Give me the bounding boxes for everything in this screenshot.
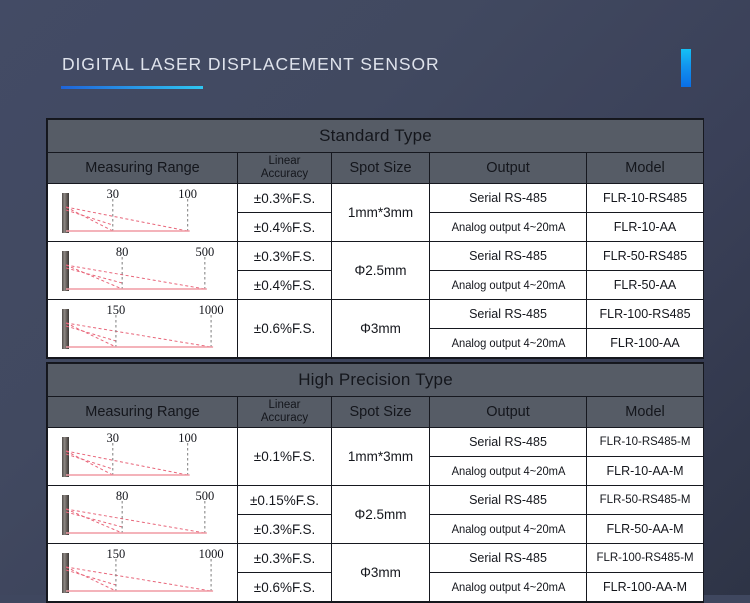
linear-accuracy-cell: ±0.3%F.S. <box>238 515 332 544</box>
linear-accuracy-cell: ±0.1%F.S. <box>238 428 332 486</box>
range-far-label: 1000 <box>199 547 224 562</box>
range-diagram-graphic <box>48 429 236 485</box>
measuring-range-cell: 1501000 <box>48 300 238 358</box>
model-cell: FLR-10-RS485-M <box>587 428 704 457</box>
range-near-label: 80 <box>116 245 129 260</box>
linear-accuracy-cell: ±0.6%F.S. <box>238 573 332 602</box>
product-spec-page: DIGITAL LASER DISPLACEMENT SENSOR Standa… <box>0 0 750 595</box>
spec-table-standard: Standard TypeMeasuring RangeLinearAccura… <box>46 118 704 359</box>
output-cell: Serial RS-485 <box>430 486 587 515</box>
table-header-row: Measuring RangeLinearAccuracySpot SizeOu… <box>48 153 704 184</box>
column-header-linear-accuracy: LinearAccuracy <box>238 153 332 184</box>
spot-size-cell: 1mm*3mm <box>332 184 430 242</box>
spot-size-cell: Φ2.5mm <box>332 486 430 544</box>
measuring-range-diagram: 1501000 <box>48 545 236 601</box>
table-row: 80500±0.3%F.S.Φ2.5mmSerial RS-485FLR-50-… <box>48 242 704 271</box>
measuring-range-cell: 30100 <box>48 428 238 486</box>
column-header-spot-size: Spot Size <box>332 153 430 184</box>
spot-size-cell: Φ3mm <box>332 544 430 602</box>
model-cell: FLR-100-AA <box>587 329 704 358</box>
model-cell: FLR-100-RS485 <box>587 300 704 329</box>
model-cell: FLR-10-AA-M <box>587 457 704 486</box>
measuring-range-cell: 30100 <box>48 184 238 242</box>
model-cell: FLR-50-RS485 <box>587 242 704 271</box>
table-caption: Standard Type <box>48 120 704 153</box>
output-cell: Serial RS-485 <box>430 428 587 457</box>
page-title: DIGITAL LASER DISPLACEMENT SENSOR <box>62 54 440 75</box>
range-far-label: 100 <box>178 431 197 446</box>
accent-bar-icon <box>681 49 691 87</box>
title-underline <box>61 86 203 89</box>
range-far-label: 1000 <box>199 303 224 318</box>
table-row: 30100±0.1%F.S.1mm*3mmSerial RS-485FLR-10… <box>48 428 704 457</box>
column-header-output: Output <box>430 397 587 428</box>
linear-accuracy-cell: ±0.3%F.S. <box>238 242 332 271</box>
output-cell: Serial RS-485 <box>430 242 587 271</box>
spec-table: High Precision TypeMeasuring RangeLinear… <box>47 363 704 602</box>
output-cell: Analog output 4~20mA <box>435 515 581 544</box>
column-header-model: Model <box>587 153 704 184</box>
range-diagram-graphic <box>48 185 236 241</box>
column-header-model: Model <box>587 397 704 428</box>
range-far-label: 500 <box>195 489 214 504</box>
column-header-output: Output <box>430 153 587 184</box>
model-cell: FLR-10-AA <box>587 213 704 242</box>
spec-table: Standard TypeMeasuring RangeLinearAccura… <box>47 119 704 358</box>
measuring-range-diagram: 30100 <box>48 185 236 241</box>
range-far-label: 100 <box>178 187 197 202</box>
column-header-measuring-range: Measuring Range <box>48 153 238 184</box>
measuring-range-diagram: 1501000 <box>48 301 236 357</box>
range-near-label: 150 <box>107 303 126 318</box>
linear-accuracy-cell: ±0.3%F.S. <box>238 184 332 213</box>
linear-accuracy-cell: ±0.4%F.S. <box>238 271 332 300</box>
linear-accuracy-label-line1: Linear <box>238 399 331 412</box>
output-cell: Analog output 4~20mA <box>435 271 581 300</box>
page-header: DIGITAL LASER DISPLACEMENT SENSOR <box>0 0 750 108</box>
range-near-label: 30 <box>107 431 120 446</box>
linear-accuracy-label-line2: Accuracy <box>238 168 331 181</box>
output-cell: Serial RS-485 <box>430 300 587 329</box>
output-cell: Analog output 4~20mA <box>435 457 581 486</box>
table-header-row: Measuring RangeLinearAccuracySpot SizeOu… <box>48 397 704 428</box>
spot-size-cell: Φ2.5mm <box>332 242 430 300</box>
model-cell: FLR-50-AA <box>587 271 704 300</box>
output-cell: Serial RS-485 <box>430 544 587 573</box>
column-header-linear-accuracy: LinearAccuracy <box>238 397 332 428</box>
linear-accuracy-cell: ±0.15%F.S. <box>238 486 332 515</box>
range-near-label: 150 <box>107 547 126 562</box>
spot-size-cell: 1mm*3mm <box>332 428 430 486</box>
measuring-range-diagram: 30100 <box>48 429 236 485</box>
measuring-range-cell: 80500 <box>48 242 238 300</box>
spot-size-cell: Φ3mm <box>332 300 430 358</box>
model-cell: FLR-100-AA-M <box>587 573 704 602</box>
linear-accuracy-label-line1: Linear <box>238 155 331 168</box>
model-cell: FLR-10-RS485 <box>587 184 704 213</box>
linear-accuracy-cell: ±0.4%F.S. <box>238 213 332 242</box>
measuring-range-cell: 80500 <box>48 486 238 544</box>
table-caption-row: Standard Type <box>48 120 704 153</box>
model-cell: FLR-50-RS485-M <box>587 486 704 515</box>
range-near-label: 80 <box>116 489 129 504</box>
measuring-range-diagram: 80500 <box>48 487 236 543</box>
table-caption: High Precision Type <box>48 364 704 397</box>
spec-table-high-precision: High Precision TypeMeasuring RangeLinear… <box>46 362 704 603</box>
model-cell: FLR-50-AA-M <box>587 515 704 544</box>
table-row: 30100±0.3%F.S.1mm*3mmSerial RS-485FLR-10… <box>48 184 704 213</box>
table-row: 80500±0.15%F.S.Φ2.5mmSerial RS-485FLR-50… <box>48 486 704 515</box>
output-cell: Analog output 4~20mA <box>435 329 581 358</box>
table-row: 1501000±0.3%F.S.Φ3mmSerial RS-485FLR-100… <box>48 544 704 573</box>
measuring-range-diagram: 80500 <box>48 243 236 299</box>
range-far-label: 500 <box>195 245 214 260</box>
table-row: 1501000±0.6%F.S.Φ3mmSerial RS-485FLR-100… <box>48 300 704 329</box>
column-header-measuring-range: Measuring Range <box>48 397 238 428</box>
linear-accuracy-label-line2: Accuracy <box>238 412 331 425</box>
range-near-label: 30 <box>107 187 120 202</box>
linear-accuracy-cell: ±0.3%F.S. <box>238 544 332 573</box>
output-cell: Analog output 4~20mA <box>435 213 581 242</box>
table-caption-row: High Precision Type <box>48 364 704 397</box>
linear-accuracy-cell: ±0.6%F.S. <box>238 300 332 358</box>
output-cell: Serial RS-485 <box>430 184 587 213</box>
column-header-spot-size: Spot Size <box>332 397 430 428</box>
output-cell: Analog output 4~20mA <box>435 573 581 602</box>
model-cell: FLR-100-RS485-M <box>587 544 704 573</box>
measuring-range-cell: 1501000 <box>48 544 238 602</box>
